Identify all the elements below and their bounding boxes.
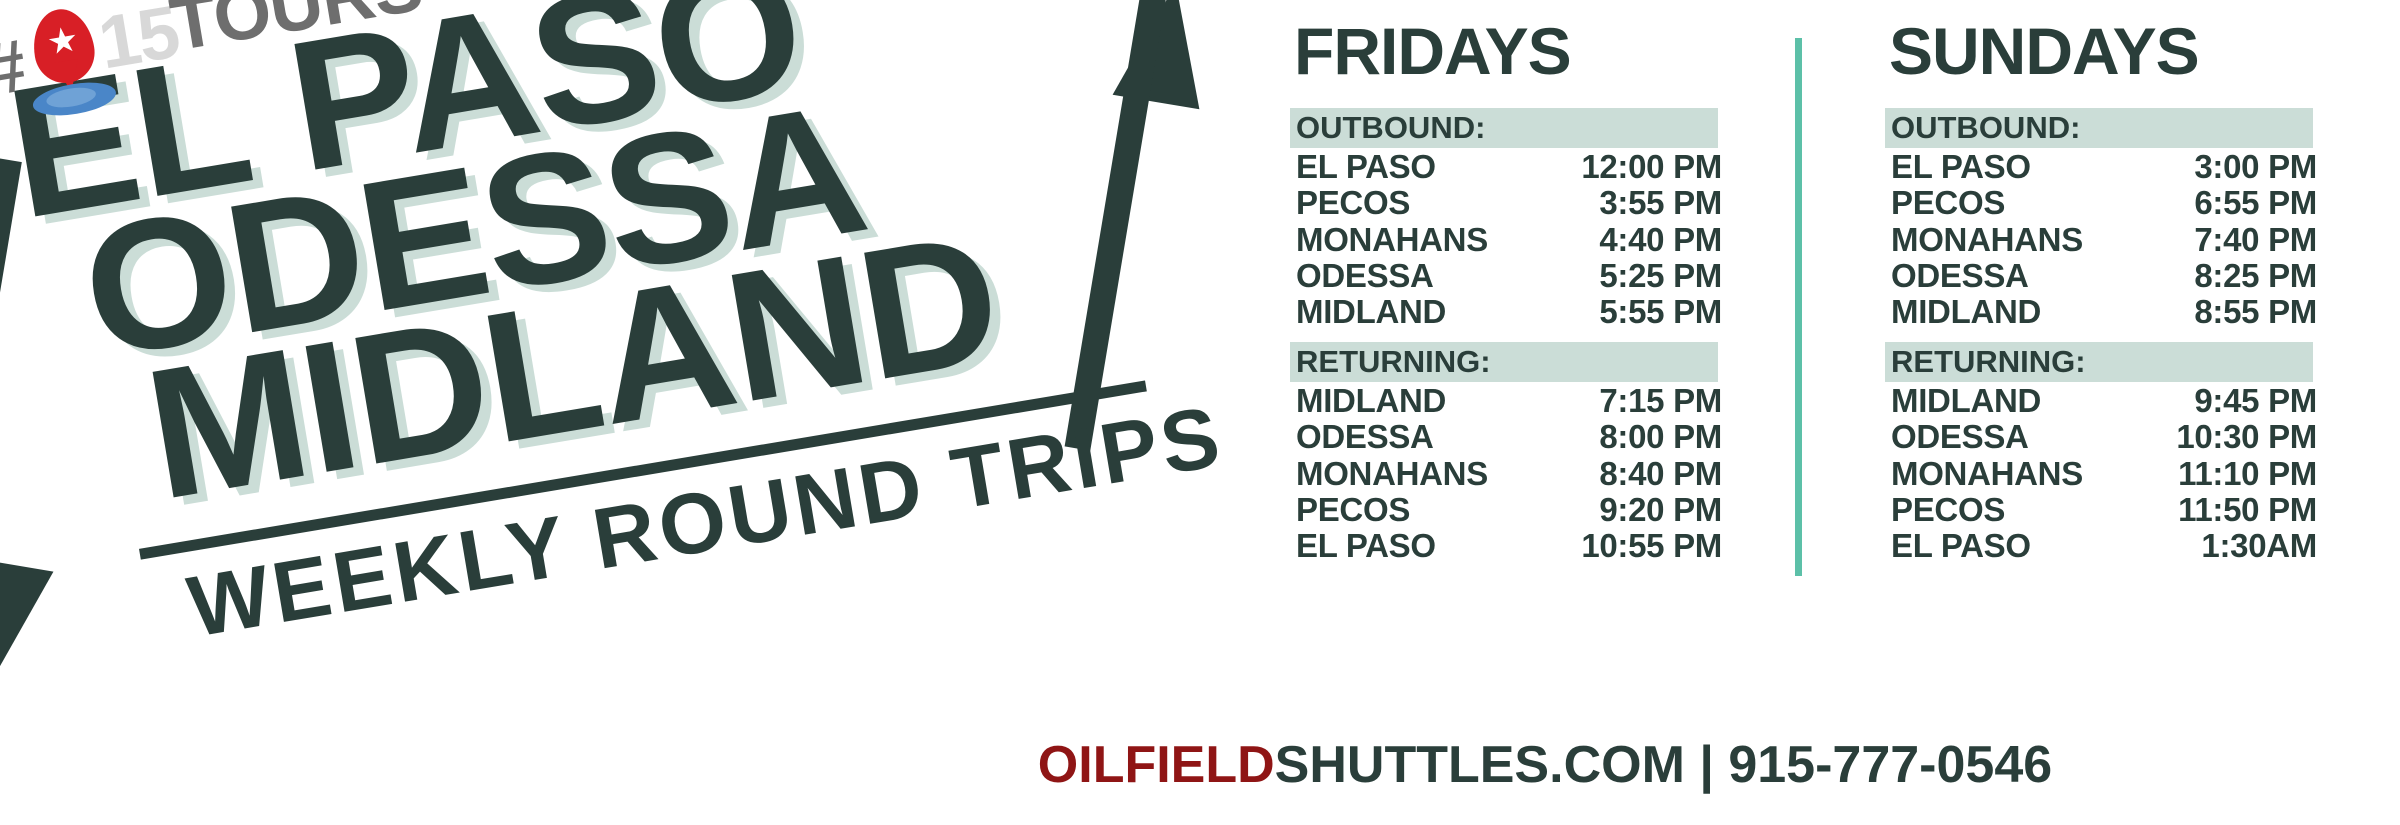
stop-row: MONAHANS 8:40 PM — [1290, 456, 1730, 492]
footer-separator: | — [1685, 736, 1728, 794]
stop-time: 12:00 PM — [1581, 149, 1722, 185]
stop-row: PECOS 6:55 PM — [1885, 185, 2325, 221]
stop-city: MIDLAND — [1296, 383, 1446, 419]
stop-row: PECOS 3:55 PM — [1290, 185, 1730, 221]
stop-row: ODESSA 8:25 PM — [1885, 258, 2325, 294]
stop-row: MIDLAND 5:55 PM — [1290, 294, 1730, 330]
stop-row: MONAHANS 4:40 PM — [1290, 222, 1730, 258]
section-outbound-fridays: OUTBOUND: EL PASO 12:00 PM PECOS 3:55 PM… — [1290, 108, 1730, 330]
stop-list: EL PASO 3:00 PM PECOS 6:55 PM MONAHANS 7… — [1885, 149, 2325, 330]
stop-city: MIDLAND — [1891, 294, 2041, 330]
stop-time: 7:40 PM — [2194, 222, 2317, 258]
stop-time: 11:10 PM — [2178, 456, 2317, 492]
sign-body: EL PASO ODESSA MIDLAND WEEKLY ROUND TRIP… — [0, 0, 1285, 696]
stop-row: MONAHANS 11:10 PM — [1885, 456, 2325, 492]
section-header: RETURNING: — [1885, 342, 2313, 382]
stop-row: EL PASO 12:00 PM — [1290, 149, 1730, 185]
stop-city: MIDLAND — [1891, 383, 2041, 419]
stop-row: ODESSA 10:30 PM — [1885, 419, 2325, 455]
stop-city: EL PASO — [1891, 528, 2031, 564]
stop-time: 1:30AM — [2201, 528, 2317, 564]
stop-city: EL PASO — [1296, 528, 1436, 564]
hash-symbol: # — [0, 28, 31, 108]
section-returning-fridays: RETURNING: MIDLAND 7:15 PM ODESSA 8:00 P… — [1290, 342, 1730, 564]
stop-time: 5:25 PM — [1599, 258, 1722, 294]
stop-list: EL PASO 12:00 PM PECOS 3:55 PM MONAHANS … — [1290, 149, 1730, 330]
stop-city: MONAHANS — [1891, 222, 2083, 258]
sign-rotation-group: EL PASO ODESSA MIDLAND WEEKLY ROUND TRIP… — [0, 0, 1300, 825]
section-header: OUTBOUND: — [1885, 108, 2313, 148]
stop-time: 9:20 PM — [1599, 492, 1722, 528]
stop-city: PECOS — [1891, 492, 2005, 528]
stop-city: ODESSA — [1296, 419, 1434, 455]
stop-city: PECOS — [1296, 185, 1410, 221]
stop-time: 8:25 PM — [2194, 258, 2317, 294]
stop-city: PECOS — [1296, 492, 1410, 528]
stop-time: 6:55 PM — [2194, 185, 2317, 221]
section-header: RETURNING: — [1290, 342, 1718, 382]
stop-row: MIDLAND 7:15 PM — [1290, 383, 1730, 419]
banner-root: EL PASO ODESSA MIDLAND WEEKLY ROUND TRIP… — [0, 0, 2400, 825]
stop-row: PECOS 9:20 PM — [1290, 492, 1730, 528]
stop-time: 8:00 PM — [1599, 419, 1722, 455]
stop-row: MIDLAND 8:55 PM — [1885, 294, 2325, 330]
stop-time: 8:40 PM — [1599, 456, 1722, 492]
stop-list: MIDLAND 9:45 PM ODESSA 10:30 PM MONAHANS… — [1885, 383, 2325, 564]
stop-city: ODESSA — [1891, 258, 2029, 294]
section-outbound-sundays: OUTBOUND: EL PASO 3:00 PM PECOS 6:55 PM … — [1885, 108, 2325, 330]
stop-time: 4:40 PM — [1599, 222, 1722, 258]
stop-row: MONAHANS 7:40 PM — [1885, 222, 2325, 258]
stop-list: MIDLAND 7:15 PM ODESSA 8:00 PM MONAHANS … — [1290, 383, 1730, 564]
day-title-sundays: SUNDAYS — [1889, 18, 2199, 84]
section-header: OUTBOUND: — [1290, 108, 1718, 148]
stop-city: PECOS — [1891, 185, 2005, 221]
stop-city: MIDLAND — [1296, 294, 1446, 330]
phone-number[interactable]: 915-777-0546 — [1728, 736, 2052, 794]
website-rest[interactable]: SHUTTLES.COM — [1275, 736, 1685, 794]
stop-city: EL PASO — [1891, 149, 2031, 185]
stop-row: EL PASO 3:00 PM — [1885, 149, 2325, 185]
stop-time: 3:55 PM — [1599, 185, 1722, 221]
stop-row: EL PASO 1:30AM — [1885, 528, 2325, 564]
road-sign-artwork: EL PASO ODESSA MIDLAND WEEKLY ROUND TRIP… — [0, 0, 1300, 825]
stop-time: 11:50 PM — [2178, 492, 2317, 528]
stop-city: MONAHANS — [1296, 456, 1488, 492]
stop-time: 5:55 PM — [1599, 294, 1722, 330]
stop-row: PECOS 11:50 PM — [1885, 492, 2325, 528]
stop-time: 9:45 PM — [2194, 383, 2317, 419]
section-returning-sundays: RETURNING: MIDLAND 9:45 PM ODESSA 10:30 … — [1885, 342, 2325, 564]
schedule-panel: FRIDAYS OUTBOUND: EL PASO 12:00 PM PECOS… — [1290, 0, 2400, 640]
stop-row: EL PASO 10:55 PM — [1290, 528, 1730, 564]
day-title-fridays: FRIDAYS — [1294, 18, 1571, 84]
stop-city: ODESSA — [1891, 419, 2029, 455]
star-icon — [47, 25, 79, 57]
website-brand[interactable]: OILFIELD — [1038, 736, 1275, 794]
footer-inner: OILFIELDSHUTTLES.COM | 915-777-0546 — [1038, 735, 2052, 795]
stop-time: 8:55 PM — [2194, 294, 2317, 330]
stop-time: 10:30 PM — [2176, 419, 2317, 455]
map-pin-icon — [28, 5, 99, 88]
stop-city: MONAHANS — [1891, 456, 2083, 492]
stop-time: 7:15 PM — [1599, 383, 1722, 419]
stop-row: ODESSA 5:25 PM — [1290, 258, 1730, 294]
stop-row: MIDLAND 9:45 PM — [1885, 383, 2325, 419]
stop-time: 10:55 PM — [1581, 528, 1722, 564]
stop-city: MONAHANS — [1296, 222, 1488, 258]
stop-city: ODESSA — [1296, 258, 1434, 294]
stop-row: ODESSA 8:00 PM — [1290, 419, 1730, 455]
stop-city: EL PASO — [1296, 149, 1436, 185]
footer-contact: OILFIELDSHUTTLES.COM | 915-777-0546 — [0, 735, 2400, 795]
stop-time: 3:00 PM — [2194, 149, 2317, 185]
column-divider — [1795, 38, 1802, 576]
